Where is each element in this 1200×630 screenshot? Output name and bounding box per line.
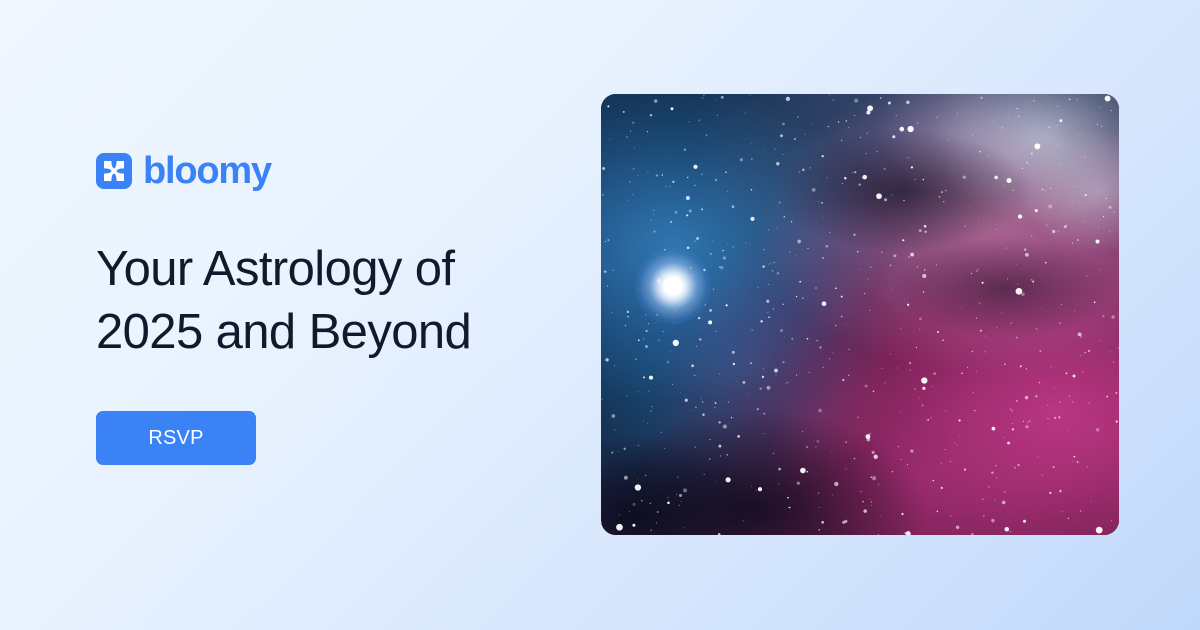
brand-wordmark: bloomy [143,152,271,190]
content-column: bloomy Your Astrology of 2025 and Beyond… [96,150,546,465]
brand-logo[interactable]: bloomy [96,150,546,192]
rsvp-button[interactable]: RSVP [96,411,256,465]
bloomy-star-mark-icon [96,153,132,189]
hero-image [601,94,1119,535]
poster-canvas: bloomy Your Astrology of 2025 and Beyond… [0,0,1200,630]
bright-star [635,248,711,324]
page-title: Your Astrology of 2025 and Beyond [96,238,516,363]
